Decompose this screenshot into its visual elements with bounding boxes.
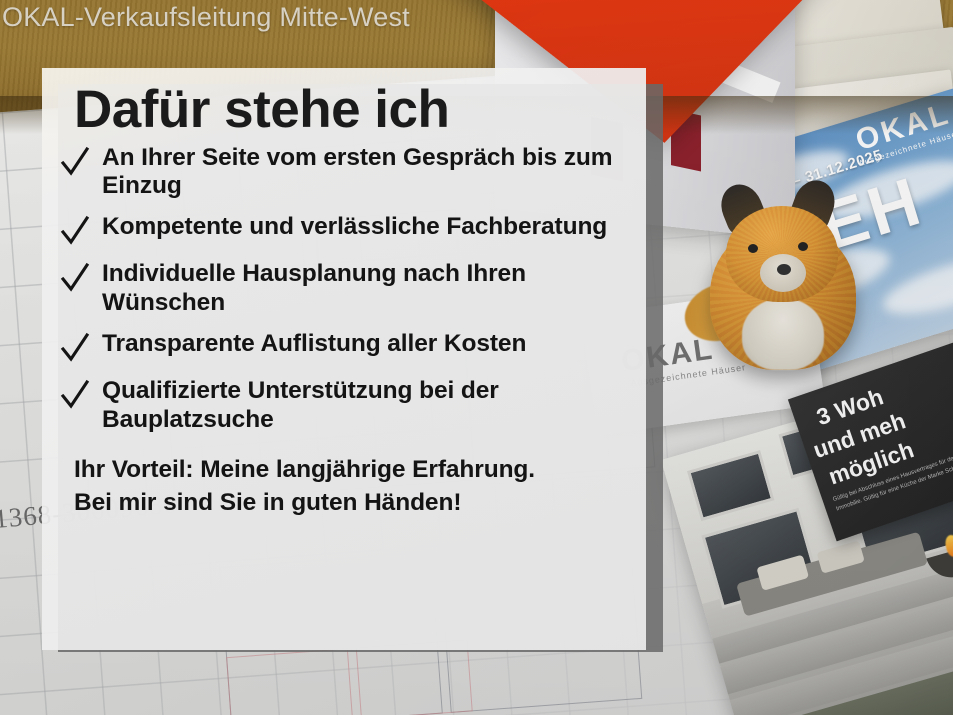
closing-statement: Ihr Vorteil: Meine langjährige Erfahrung… xyxy=(74,454,624,519)
slide-canvas: 1368-30009680 15.03. – 31.12.2025 MEH OK… xyxy=(0,0,953,715)
check-mark-icon xyxy=(60,332,90,366)
list-item: Qualifizierte Unterstützung bei der Baup… xyxy=(60,377,624,434)
closing-line-2: Bei mir sind Sie in guten Händen! xyxy=(74,487,624,520)
check-mark-icon xyxy=(60,215,90,249)
list-item-label: Transparente Auflistung aller Kosten xyxy=(102,330,526,358)
check-mark-icon xyxy=(60,146,90,180)
panel-headline: Dafür stehe ich xyxy=(74,82,624,138)
page-title: OKAL-Verkaufsleitung Mitte-West xyxy=(2,2,410,33)
list-item: Kompetente und verlässliche Fach­beratun… xyxy=(60,213,624,247)
closing-line-1: Ihr Vorteil: Meine langjährige Erfahrung… xyxy=(74,454,624,487)
list-item-label: Qualifizierte Unterstützung bei der Baup… xyxy=(102,377,624,434)
fox-eye-icon xyxy=(748,244,758,253)
list-item: An Ihrer Seite vom ersten Gespräch bis z… xyxy=(60,144,624,201)
fox-chest xyxy=(742,298,824,370)
fox-nose-icon xyxy=(777,264,791,275)
check-mark-icon xyxy=(60,262,90,296)
benefits-list: An Ihrer Seite vom ersten Gespräch bis z… xyxy=(60,144,624,434)
list-item: Individuelle Hausplanung nach Ihren Wüns… xyxy=(60,260,624,317)
list-item: Transparente Auflistung aller Kosten xyxy=(60,330,624,364)
content-panel: Dafür stehe ich An Ihrer Seite vom erste… xyxy=(42,68,646,650)
check-mark-icon xyxy=(60,379,90,413)
list-item-label: Individuelle Hausplanung nach Ihren Wüns… xyxy=(102,260,624,317)
plush-fox-toy xyxy=(682,172,872,372)
fox-eye-icon xyxy=(798,242,808,251)
list-item-label: An Ihrer Seite vom ersten Gespräch bis z… xyxy=(102,144,624,201)
list-item-label: Kompetente und verlässliche Fach­beratun… xyxy=(102,213,607,241)
